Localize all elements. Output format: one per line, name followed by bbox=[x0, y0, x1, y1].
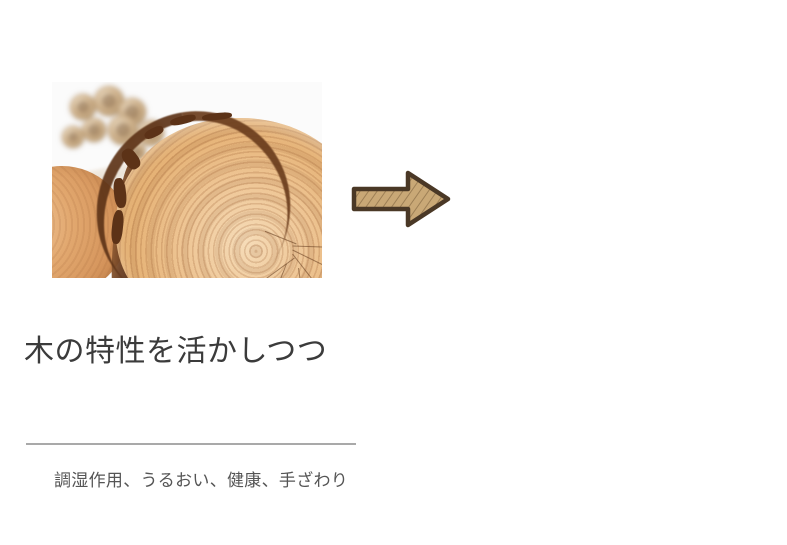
slide-canvas: 木の特性を活かしつつ 調湿作用、うるおい、健康、手ざわり bbox=[0, 0, 787, 545]
log-photo-scene bbox=[52, 82, 322, 278]
left-panel: 木の特性を活かしつつ 調湿作用、うるおい、健康、手ざわり bbox=[0, 0, 400, 545]
left-caption: 調湿作用、うるおい、健康、手ざわり bbox=[54, 467, 374, 495]
left-divider bbox=[26, 443, 356, 445]
log-crack bbox=[292, 246, 322, 248]
cut-log-cross-section-photo bbox=[52, 82, 322, 278]
left-heading: 木の特性を活かしつつ bbox=[24, 332, 384, 372]
right-panel: 構造設計で 隙間の発生を根本から 抑える 素材の性質や地盤の特性を 読み取り、未… bbox=[400, 0, 787, 545]
